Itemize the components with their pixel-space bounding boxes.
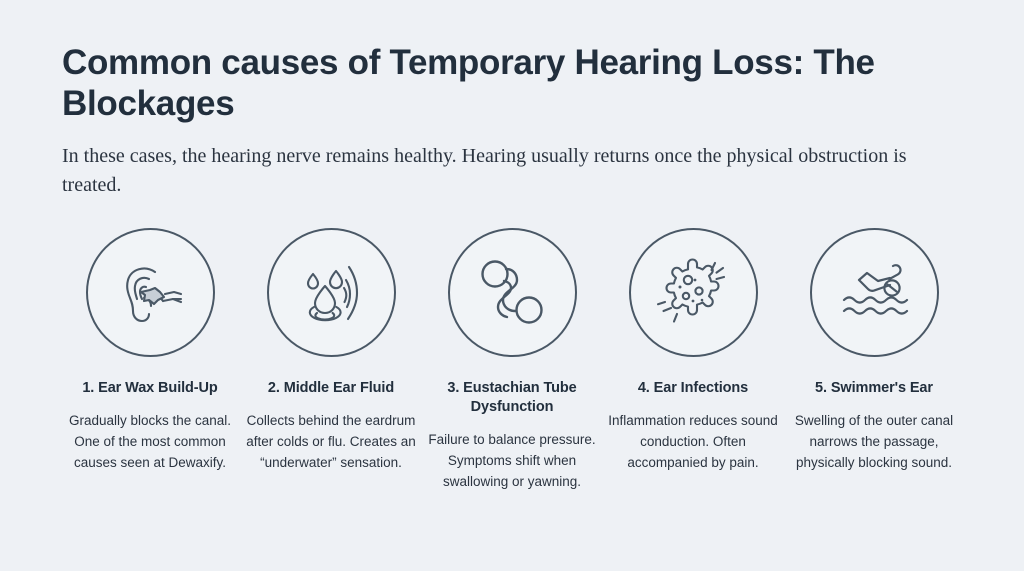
swimmer-icon — [830, 248, 918, 336]
card-body: Collects behind the eardrum after colds … — [243, 398, 419, 473]
water-droplet-icon — [289, 250, 373, 334]
page-subtitle: In these cases, the hearing nerve remain… — [62, 125, 932, 200]
card-heading: 2. Middle Ear Fluid — [268, 357, 394, 398]
card-heading: 1. Ear Wax Build-Up — [82, 357, 217, 398]
infographic-page: Common causes of Temporary Hearing Loss:… — [0, 0, 1024, 571]
eustachian-tube-icon — [470, 250, 554, 334]
cause-card: 4. Ear Infections Inflammation reduces s… — [605, 228, 781, 473]
icon-circle — [810, 228, 939, 357]
card-body: Failure to balance pressure. Symptoms sh… — [424, 417, 600, 492]
cause-card: 3. Eustachian Tube Dysfunction Failure t… — [424, 228, 600, 492]
icon-circle — [448, 228, 577, 357]
page-title: Common causes of Temporary Hearing Loss:… — [62, 0, 942, 125]
cause-card-list: 1. Ear Wax Build-Up Gradually blocks the… — [62, 200, 962, 492]
card-heading: 3. Eustachian Tube Dysfunction — [424, 357, 600, 417]
virus-germ-icon — [650, 249, 736, 335]
card-heading: 5. Swimmer's Ear — [815, 357, 933, 398]
card-heading: 4. Ear Infections — [638, 357, 748, 398]
icon-circle — [86, 228, 215, 357]
card-body: Inflammation reduces sound conduction. O… — [605, 398, 781, 473]
icon-circle — [267, 228, 396, 357]
card-body: Gradually blocks the canal. One of the m… — [62, 398, 238, 473]
icon-circle — [629, 228, 758, 357]
cause-card: 1. Ear Wax Build-Up Gradually blocks the… — [62, 228, 238, 473]
cause-card: 5. Swimmer's Ear Swelling of the outer c… — [786, 228, 962, 473]
card-body: Swelling of the outer canal narrows the … — [786, 398, 962, 473]
ear-wax-icon — [108, 250, 192, 334]
cause-card: 2. Middle Ear Fluid Collects behind the … — [243, 228, 419, 473]
